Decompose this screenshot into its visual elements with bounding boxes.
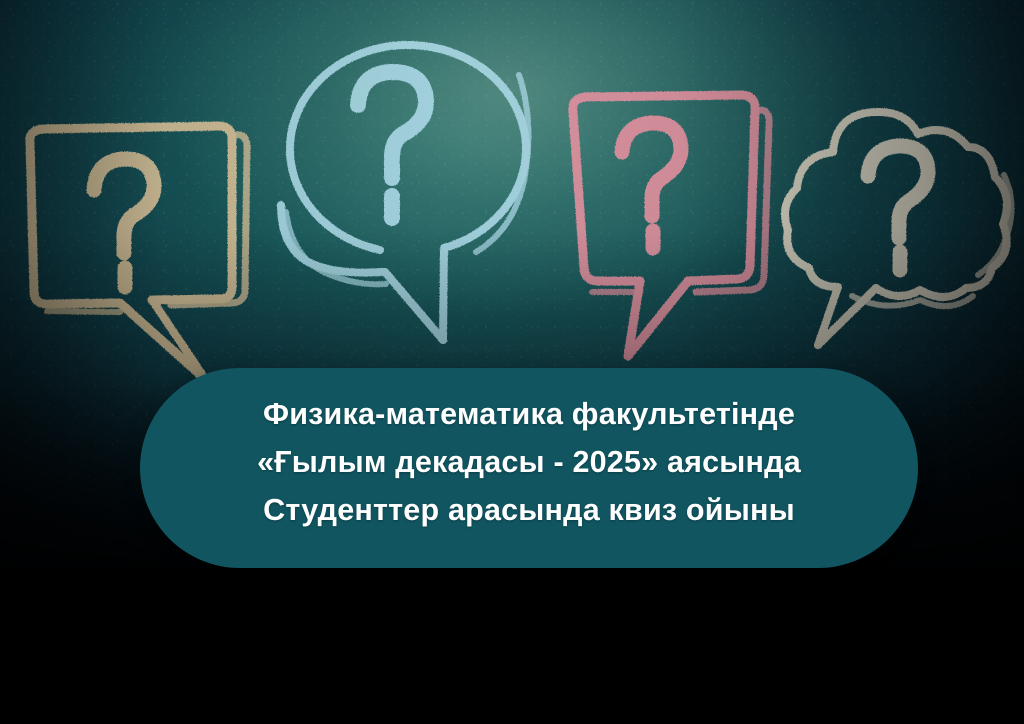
- poster-root: Физика-математика факультетінде «Ғылым д…: [0, 0, 1024, 724]
- caption-line-1: Физика-математика факультетінде: [140, 390, 918, 438]
- caption-line-2: «Ғылым декадасы - 2025» аясында: [140, 438, 918, 486]
- caption-line-3: Студенттер арасында квиз ойыны: [140, 486, 918, 534]
- speech-bubble-pink: [573, 95, 769, 356]
- speech-bubble-tan: [30, 126, 247, 380]
- speech-bubble-cloud: [785, 112, 1012, 345]
- caption-card: Физика-математика факультетінде «Ғылым д…: [140, 368, 918, 568]
- letterbox-bottom-bar: [0, 569, 1024, 724]
- speech-bubble-blue: [281, 45, 528, 340]
- caption-text-block: Физика-математика факультетінде «Ғылым д…: [140, 390, 918, 534]
